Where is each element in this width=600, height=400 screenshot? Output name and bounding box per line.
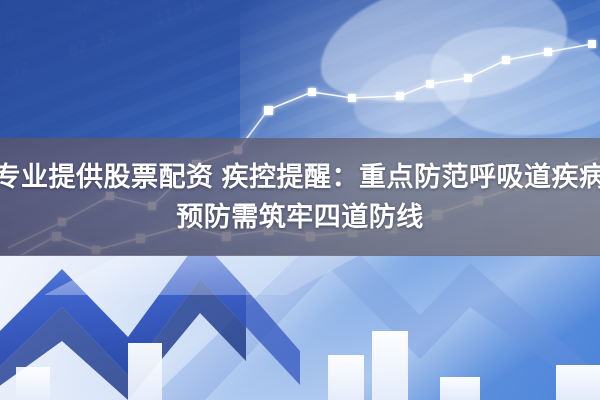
ticker-row: 50.0202.3202.3211.16 <box>0 0 600 135</box>
ticker-row: 4.25-50.02-36.3202.32 <box>0 0 600 67</box>
stock-news-banner: 21.1545.024.36-02.36 -02.36-11.25-50.028… <box>0 0 600 400</box>
bar-column <box>372 331 408 400</box>
ticker-row: 1.16-50.02-36.3202.32 <box>0 0 600 101</box>
ticker-row: 1.25-02.36-50.02-36.32 <box>0 0 600 32</box>
bar-column <box>440 377 480 400</box>
bar-column <box>328 355 364 400</box>
headline-line-2: 预防需筑牢四道防线 <box>176 198 424 236</box>
bar-column <box>556 365 600 400</box>
map-silhouette-icon <box>344 43 480 147</box>
bar-column <box>16 367 50 400</box>
map-silhouette-icon <box>425 18 600 145</box>
headline-line-1: 专业提供股票配资 疾控提醒：重点防范呼吸道疾病 <box>0 158 600 196</box>
map-silhouette-icon <box>310 0 576 121</box>
light-wedge <box>44 255 360 295</box>
headline-text: 专业提供股票配资 疾控提醒：重点防范呼吸道疾病 预防需筑牢四道防线 <box>0 138 600 256</box>
bar-column <box>128 343 162 400</box>
bottom-graphics <box>0 255 600 400</box>
